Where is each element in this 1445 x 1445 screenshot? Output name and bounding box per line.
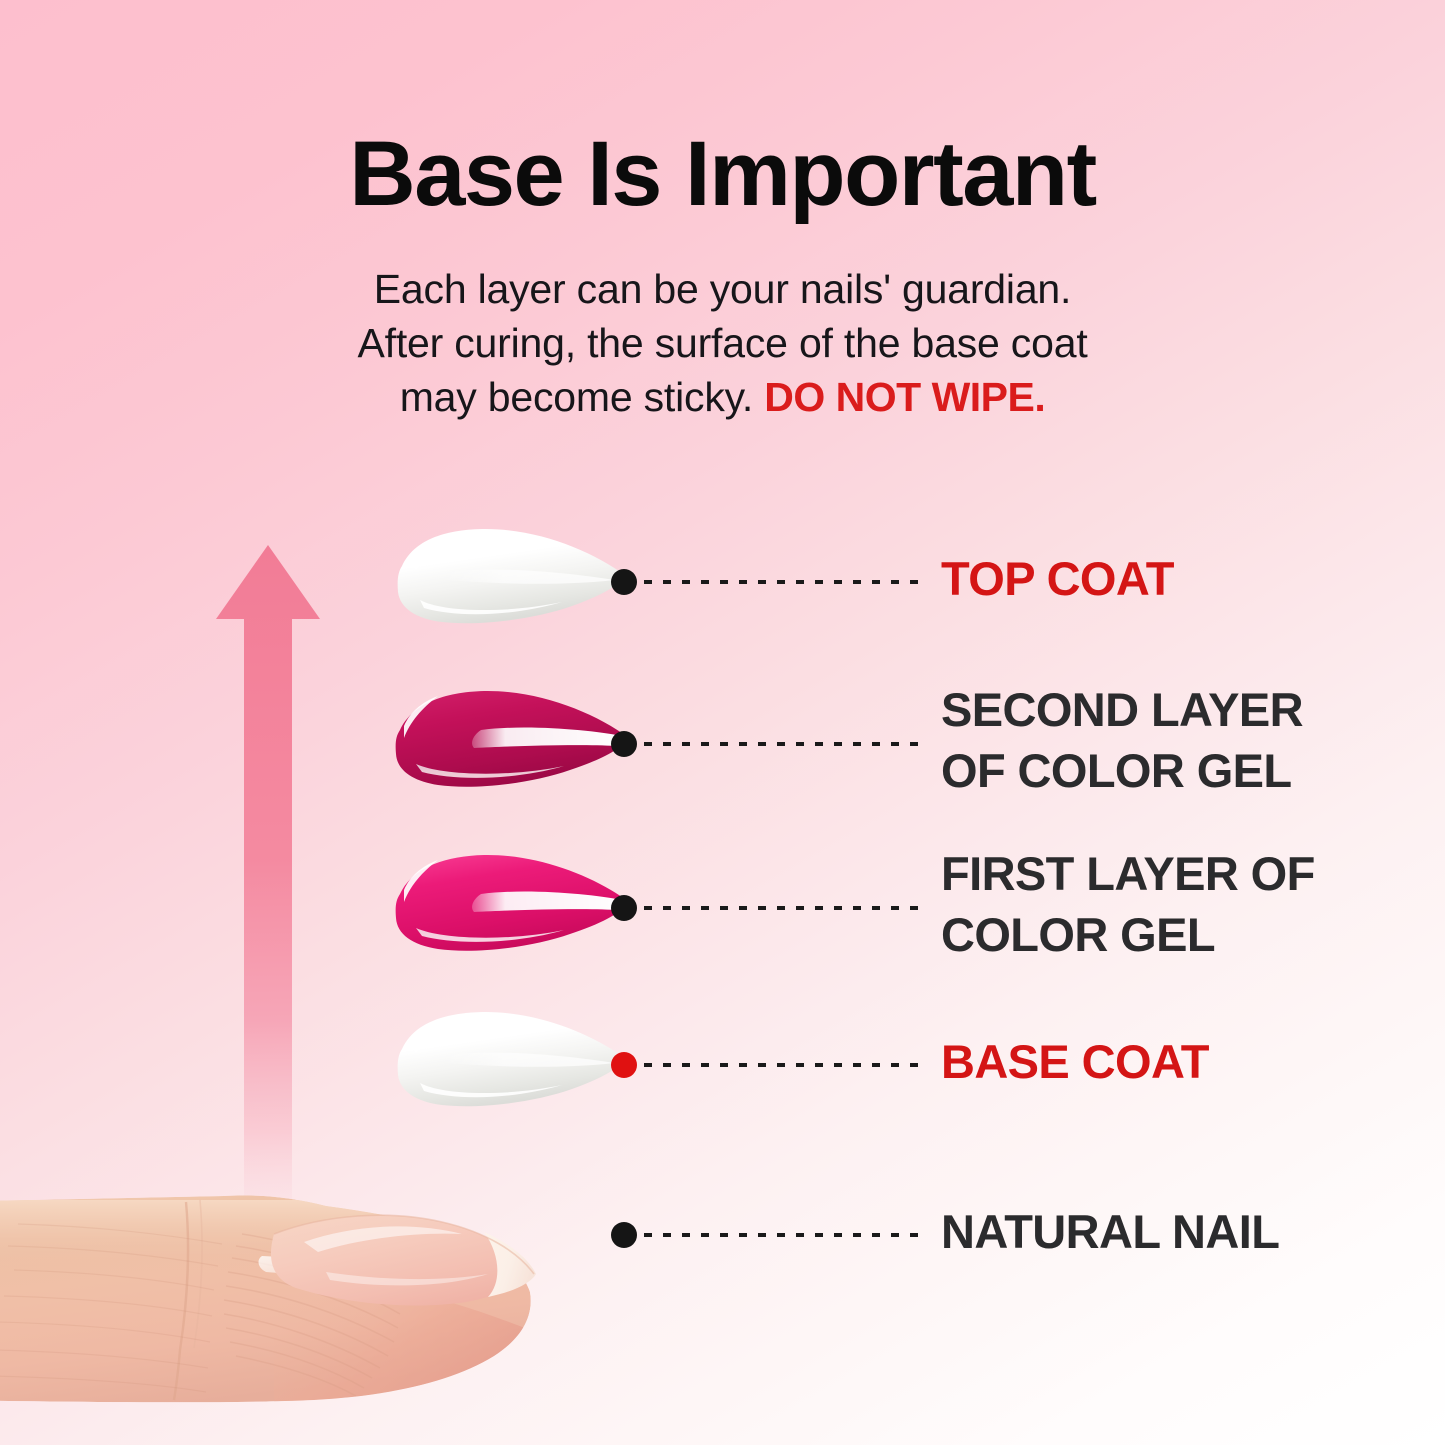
connector-dashed-line-base-coat (644, 1063, 920, 1067)
nail-first-layer-color-gel (386, 850, 636, 966)
subtitle-line-3: may become sticky. DO NOT WIPE. (0, 370, 1445, 424)
nail-second-layer-color-gel (386, 686, 636, 802)
subtitle-line-1: Each layer can be your nails' guardian. (0, 262, 1445, 316)
connector-dot-base-coat (611, 1052, 637, 1078)
connector-base-coat (624, 1064, 920, 1066)
upward-arrow-icon (216, 545, 320, 1245)
page-title: Base Is Important (0, 126, 1445, 223)
connector-dashed-line-natural-nail (644, 1233, 920, 1237)
connector-top-coat (624, 581, 920, 583)
nail-base-coat (386, 1007, 636, 1123)
page-subtitle: Each layer can be your nails' guardian. … (0, 262, 1445, 424)
connector-dashed-line-top-coat (644, 580, 920, 584)
layer-label-natural-nail: NATURAL NAIL (941, 1201, 1279, 1262)
connector-first-layer (624, 907, 920, 909)
connector-second-layer (624, 743, 920, 745)
subtitle-line-2: After curing, the surface of the base co… (0, 316, 1445, 370)
layer-label-top-coat: TOP COAT (941, 548, 1174, 609)
layer-label-base-coat: BASE COAT (941, 1031, 1209, 1092)
layer-label-second-layer-color-gel: SECOND LAYER OF COLOR GEL (941, 679, 1303, 801)
subtitle-line-3-text: may become sticky. (400, 374, 765, 420)
layer-label-first-layer-color-gel: FIRST LAYER OF COLOR GEL (941, 843, 1315, 965)
connector-dot-natural-nail (611, 1222, 637, 1248)
connector-dot-top-coat (611, 569, 637, 595)
finger-illustration (0, 1150, 614, 1445)
infographic-canvas: Base Is Important Each layer can be your… (0, 0, 1445, 1445)
connector-dot-first-layer (611, 895, 637, 921)
connector-dot-second-layer (611, 731, 637, 757)
connector-dashed-line-second-layer (644, 742, 920, 746)
do-not-wipe-warning: DO NOT WIPE. (764, 374, 1045, 420)
connector-dashed-line-first-layer (644, 906, 920, 910)
nail-top-coat (386, 524, 636, 640)
connector-natural-nail (624, 1234, 920, 1236)
